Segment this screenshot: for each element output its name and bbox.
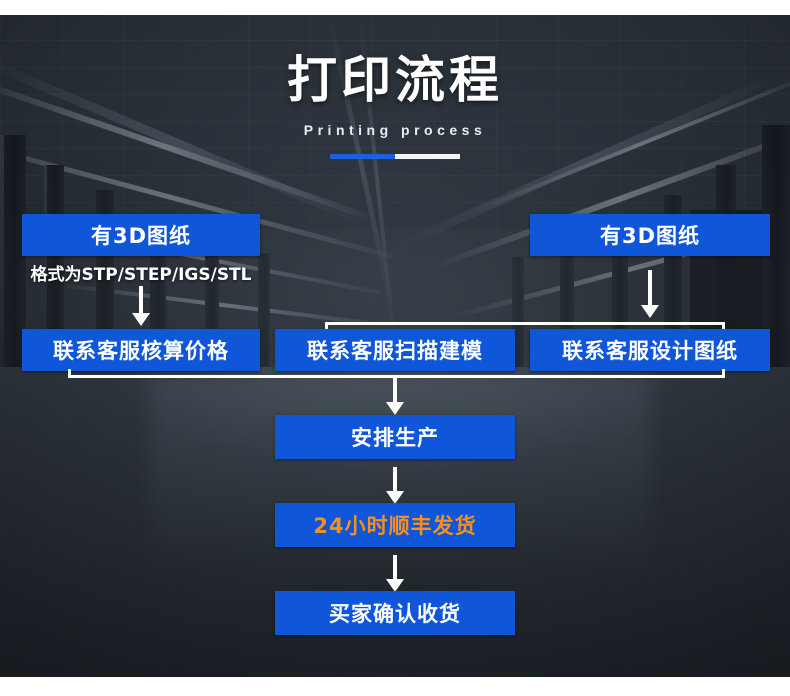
arrow-down-to-confirm	[385, 555, 405, 592]
flow-box-24h-shipping[interactable]: 24小时顺丰发货	[275, 503, 515, 547]
connector-bottom-bracket-left-leg	[68, 369, 71, 378]
process-flowchart: 有3D图纸 格式为STP/STEP/IGS/STL 有3D图纸 联系客服核算价格…	[0, 0, 790, 696]
flow-box-buyer-confirm[interactable]: 买家确认收货	[275, 591, 515, 635]
flow-box-contact-design[interactable]: 联系客服设计图纸	[530, 329, 770, 371]
arrow-down-left-col	[131, 286, 151, 326]
connector-top-bracket	[325, 322, 725, 325]
flow-note-file-formats: 格式为STP/STEP/IGS/STL	[25, 260, 257, 285]
printing-process-banner: 打印流程 Printing process 有3D图纸 格式为STP/STEP/…	[0, 0, 790, 696]
arrow-down-to-production	[385, 378, 405, 415]
flow-box-contact-scan[interactable]: 联系客服扫描建模	[275, 329, 515, 371]
arrow-down-to-shipping	[385, 467, 405, 504]
flow-box-top-left[interactable]: 有3D图纸	[22, 214, 260, 256]
flow-box-arrange-production[interactable]: 安排生产	[275, 415, 515, 459]
flow-box-top-right[interactable]: 有3D图纸	[530, 214, 770, 256]
arrow-down-right-col	[640, 270, 660, 318]
flow-box-contact-quote[interactable]: 联系客服核算价格	[22, 329, 260, 371]
connector-bottom-bracket-right-leg	[722, 369, 725, 378]
